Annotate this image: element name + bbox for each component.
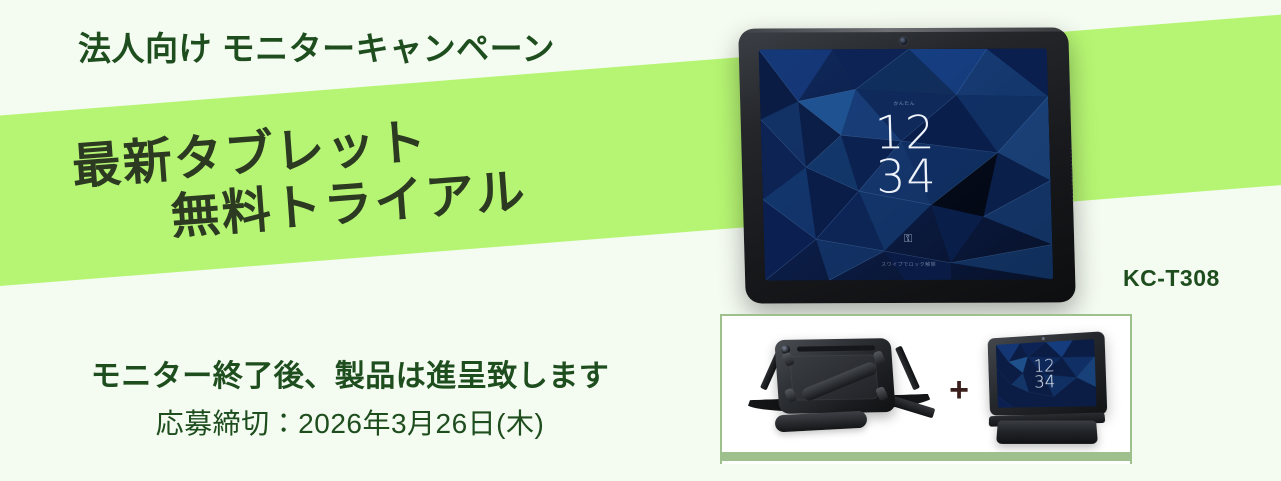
rugged-case-body [774, 338, 895, 414]
clock-minutes: 34 [997, 373, 1096, 393]
application-deadline-text: 応募締切：2026年3月26日(木) [0, 402, 700, 442]
case-product-image [741, 327, 937, 453]
corner-bumper [875, 386, 889, 401]
clock-minutes: 34 [762, 155, 1051, 200]
promo-block: モニター終了後、製品は進呈致します 応募締切：2026年3月26日(木) [0, 358, 700, 442]
campaign-banner: 法人向け モニターキャンペーン 最新タブレット 無料トライアル モニター終了後、… [0, 0, 1281, 481]
accessory-panel: + [720, 314, 1132, 464]
product-model-label: KC-T308 [1123, 265, 1220, 292]
lock-icon: ⚿ [764, 232, 1052, 246]
front-camera-icon [1042, 337, 1045, 340]
tablet-screen: かんたん 12 34 ⚿ スワイプでロック解除 [759, 49, 1054, 281]
shoulder-pad [775, 411, 868, 433]
docked-lockscreen-clock: 12 34 [996, 356, 1096, 393]
screen-bottom-text: スワイプでロック解除 [765, 260, 1053, 268]
kicker-heading: 法人向け モニターキャンペーン [78, 22, 555, 70]
dock-cradle-base [996, 421, 1098, 444]
strap-connector-right [895, 346, 920, 391]
front-camera-icon [899, 37, 907, 45]
plus-icon: + [949, 373, 969, 407]
hero-tablet-image: かんたん 12 34 ⚿ スワイプでロック解除 [738, 27, 1076, 303]
docked-tablet-screen: 12 34 [996, 339, 1097, 408]
accessory-panel-underbar [720, 452, 1132, 461]
docked-tablet-body: 12 34 [987, 331, 1107, 415]
tablet-body: かんたん 12 34 ⚿ スワイプでロック解除 [738, 27, 1076, 303]
promo-main-text: モニター終了後、製品は進呈致します [0, 358, 700, 396]
case-top-slot [797, 345, 875, 351]
dock-product-image: 12 34 [981, 329, 1111, 451]
lockscreen-clock: 12 34 [760, 111, 1051, 199]
bezel-highlight [738, 27, 1068, 32]
